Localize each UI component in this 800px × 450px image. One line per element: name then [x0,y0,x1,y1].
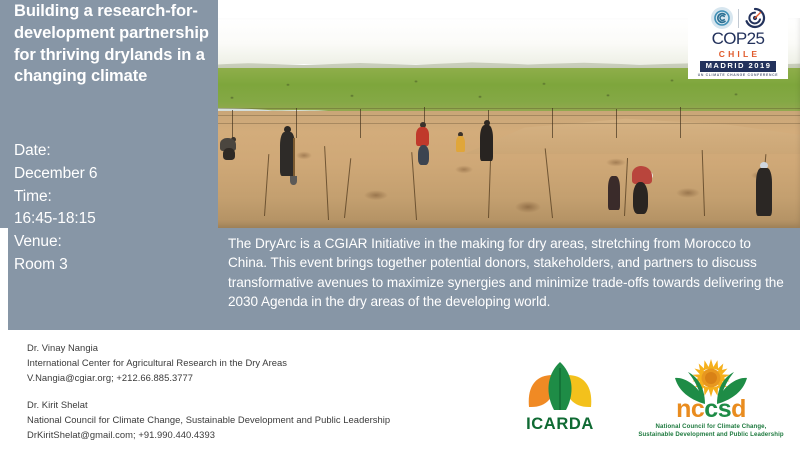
event-poster: Building a research-for-development part… [0,0,800,450]
cop25-logo: COP25 CHILE MADRID 2019 UN CLIMATE CHANG… [688,3,788,79]
description-text: The DryArc is a CGIAR Initiative in the … [228,234,790,311]
cop25-city-year: MADRID 2019 [700,61,777,72]
logo-divider [738,9,739,28]
contact-item: Dr. Kirit Shelat National Council for Cl… [27,397,477,443]
cop25-spiral-icon [744,7,766,29]
event-meta: Date: December 6 Time: 16:45-18:15 Venue… [14,140,212,277]
venue-value: Room 3 [14,254,212,277]
contact-details[interactable]: V.Nangia@cgiar.org; +212.66.885.3777 [27,370,477,385]
date-label: Date: [14,140,212,163]
nccsd-subtitle-line1: National Council for Climate Change, [628,423,794,431]
contact-name: Dr. Kirit Shelat [27,397,477,412]
cop25-tagline: UN CLIMATE CHANGE CONFERENCE [698,73,779,77]
contact-list: Dr. Vinay Nangia International Center fo… [27,340,477,442]
nccsd-subtitle-line2: Sustainable Development and Public Leade… [628,431,794,439]
icarda-leaf-icon [524,362,596,412]
cop25-country: CHILE [716,49,761,59]
cop25-wordmark: COP25 [712,30,765,48]
icarda-wordmark: ICARDA [511,415,609,434]
left-white-gutter [0,228,8,330]
contact-name: Dr. Vinay Nangia [27,340,477,355]
icarda-logo: ICARDA [511,362,609,440]
nccsd-subtitle: National Council for Climate Change, Sus… [628,423,794,439]
nccsd-sunflower-hands-icon [661,358,761,402]
contact-organization: International Center for Agricultural Re… [27,355,477,370]
venue-label: Venue: [14,231,212,254]
time-label: Time: [14,186,212,209]
unfccc-circle-icon [711,7,733,29]
date-value: December 6 [14,163,212,186]
nccsd-logo: nccsd National Council for Climate Chang… [628,358,794,444]
page-title: Building a research-for-development part… [14,1,210,88]
contact-organization: National Council for Climate Change, Sus… [27,412,477,427]
contact-details[interactable]: DrKiritShelat@gmail.com; +91.990.440.439… [27,427,477,442]
time-value: 16:45-18:15 [14,208,212,231]
description-panel: The DryArc is a CGIAR Initiative in the … [218,228,800,330]
contact-item: Dr. Vinay Nangia International Center fo… [27,340,477,386]
